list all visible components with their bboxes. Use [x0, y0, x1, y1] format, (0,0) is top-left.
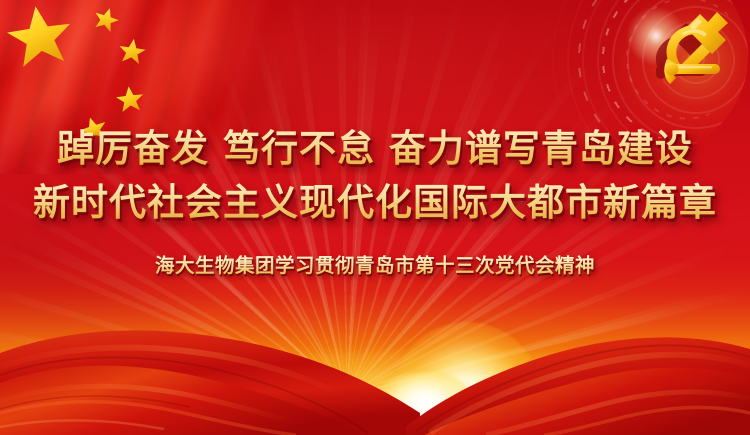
- flag-star-large: [4, 2, 75, 68]
- banner-subtitle: 海大生物集团学习贯彻青岛市第十三次党代会精神: [0, 252, 750, 280]
- red-silk-ribbons: [0, 305, 750, 435]
- flag-star-small-1: [91, 4, 121, 33]
- flag-star-small-2: [117, 37, 146, 64]
- propaganda-banner: 踔厉奋发 笃行不怠 奋力谱写青岛建设 新时代社会主义现代化国际大都市新篇章 海大…: [0, 0, 750, 435]
- cpc-emblem-area: [574, 0, 750, 130]
- banner-title-line-2: 新时代社会主义现代化国际大都市新篇章: [0, 176, 750, 230]
- flag-star-small-3: [115, 85, 145, 113]
- hammer-and-sickle-icon: [638, 2, 746, 110]
- banner-title-line-1: 踔厉奋发 笃行不怠 奋力谱写青岛建设: [0, 122, 750, 176]
